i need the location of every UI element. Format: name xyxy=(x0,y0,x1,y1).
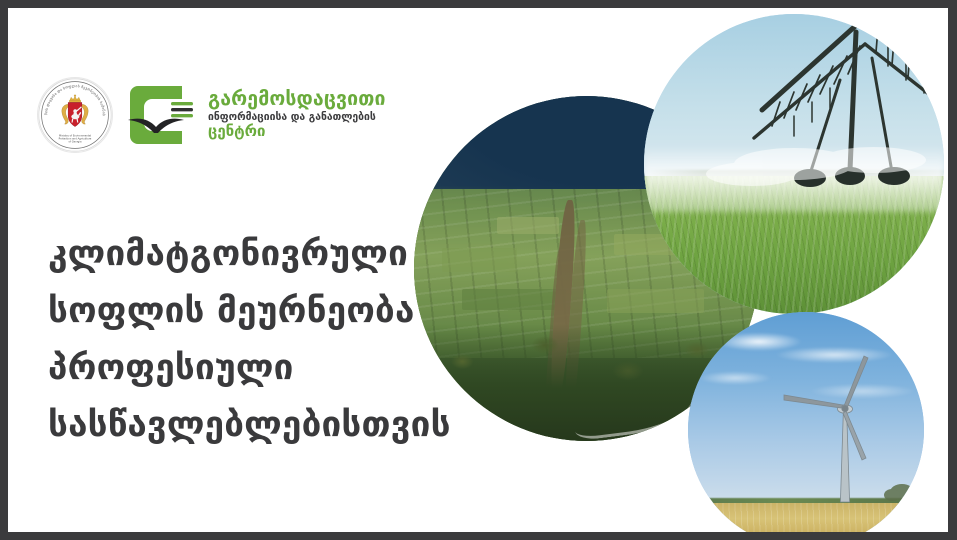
logo-lockup: გარემოს დაცვისა და სოფლის მეურნეობის სამ… xyxy=(38,78,386,152)
headline-line-2: სოფლის მეურნეობა xyxy=(48,283,451,340)
logo-line-3: ცენტრი xyxy=(208,124,386,139)
wind-turbine-icon xyxy=(688,312,924,532)
page-title: კლიმატგონივრული სოფლის მეურნეობა პროფესი… xyxy=(48,226,451,454)
pivot-irrigation-rig-icon xyxy=(644,14,944,314)
poster-canvas: გარემოს დაცვისა და სოფლის მეურნეობის სამ… xyxy=(8,8,948,532)
headline-line-1: კლიმატგონივრული xyxy=(48,226,451,283)
poster-frame: გარემოს დაცვისა და სოფლის მეურნეობის სამ… xyxy=(0,0,957,540)
svg-text:of Georgia: of Georgia xyxy=(68,139,81,143)
logo-line-1: გარემოსდაცვითი xyxy=(208,89,386,109)
field-patch xyxy=(462,289,566,310)
field-patch xyxy=(497,217,559,234)
headline-line-4: სასწავლებლებისთვის xyxy=(48,397,451,454)
headline-line-3: პროფესიული xyxy=(48,340,451,397)
photo-collage xyxy=(412,8,948,532)
logo-wordmark: გარემოსდაცვითი ინფორმაციისა და განათლები… xyxy=(208,89,386,141)
field-patch xyxy=(442,248,518,272)
logo-line-2: ინფორმაციისა და განათლების xyxy=(208,112,386,122)
wind-turbine-photo xyxy=(688,312,924,532)
open-book-logo-mark-icon xyxy=(124,82,196,148)
center-pivot-irrigation-photo xyxy=(644,14,944,314)
ministry-of-environment-seal-icon: გარემოს დაცვისა და სოფლის მეურნეობის სამ… xyxy=(38,78,112,152)
